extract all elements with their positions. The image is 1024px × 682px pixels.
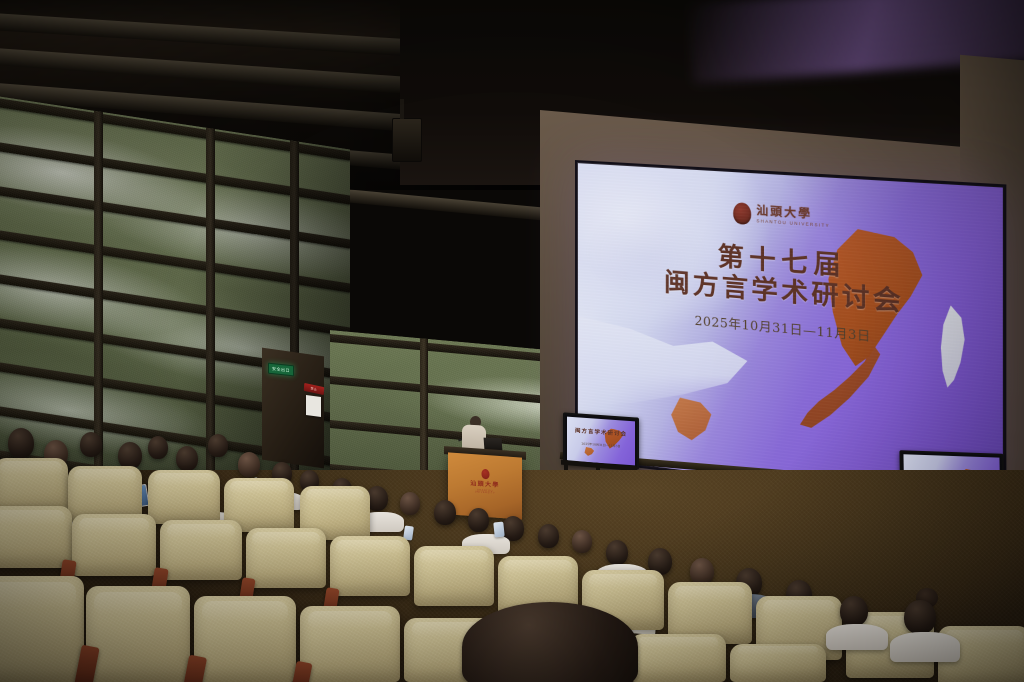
auditorium-seat[interactable] bbox=[86, 586, 190, 682]
podium: 汕頭大學 SHANTOU UNIVERSITY bbox=[448, 452, 522, 519]
auditorium-seat[interactable] bbox=[246, 528, 326, 588]
audience-head bbox=[80, 432, 102, 457]
audience-shoulders bbox=[826, 624, 888, 650]
map-region-guangdong bbox=[583, 447, 595, 458]
auditorium-seat[interactable] bbox=[414, 546, 494, 606]
auditorium-seat[interactable] bbox=[0, 576, 84, 682]
shantou-university-emblem-icon bbox=[481, 468, 489, 479]
podium-logo: 汕頭大學 SHANTOU UNIVERSITY bbox=[467, 467, 504, 495]
audience-head bbox=[176, 446, 198, 471]
audience-head bbox=[238, 452, 260, 477]
audience-head bbox=[606, 540, 628, 565]
auditorium-seat[interactable] bbox=[0, 506, 72, 568]
audience-head bbox=[400, 492, 420, 515]
audience-head bbox=[538, 524, 559, 548]
audience-phone[interactable] bbox=[493, 522, 505, 538]
auditorium-seat[interactable] bbox=[630, 634, 726, 682]
audience-head bbox=[434, 500, 456, 525]
audience-head bbox=[208, 434, 228, 457]
auditorium-seat[interactable] bbox=[160, 520, 242, 580]
ceiling-speaker bbox=[392, 118, 422, 162]
audience-head bbox=[118, 442, 142, 469]
audience-head bbox=[904, 600, 936, 634]
foreground-audience-head bbox=[462, 602, 638, 682]
monitor-title: 闽方言学术研讨会 bbox=[575, 429, 627, 440]
auditorium-seat[interactable] bbox=[72, 514, 156, 576]
auditorium-seat[interactable] bbox=[148, 470, 220, 524]
podium-name-cn: 汕頭大學 bbox=[467, 480, 504, 489]
audience-head bbox=[468, 508, 489, 532]
podium-name-en: SHANTOU UNIVERSITY bbox=[467, 488, 504, 495]
notice-paper bbox=[306, 395, 321, 417]
monitor-screen-content: 闽方言学术研讨会 2025年10月31日—11月3日 bbox=[567, 417, 635, 466]
audience-head bbox=[148, 436, 168, 459]
auditorium-seat[interactable] bbox=[194, 596, 296, 682]
auditorium-seat[interactable] bbox=[330, 536, 410, 596]
audience-head bbox=[8, 428, 34, 458]
audience-head bbox=[572, 530, 592, 553]
auditorium-scene: 安全出口 禁止 汕頭大學 SHANTOU UNIVERSITY bbox=[0, 0, 1024, 682]
auditorium-seat[interactable] bbox=[300, 606, 400, 682]
audience-head bbox=[840, 596, 868, 626]
auditorium-seat[interactable] bbox=[730, 644, 826, 682]
audience-head bbox=[690, 558, 714, 585]
audience-shoulders bbox=[890, 632, 960, 662]
